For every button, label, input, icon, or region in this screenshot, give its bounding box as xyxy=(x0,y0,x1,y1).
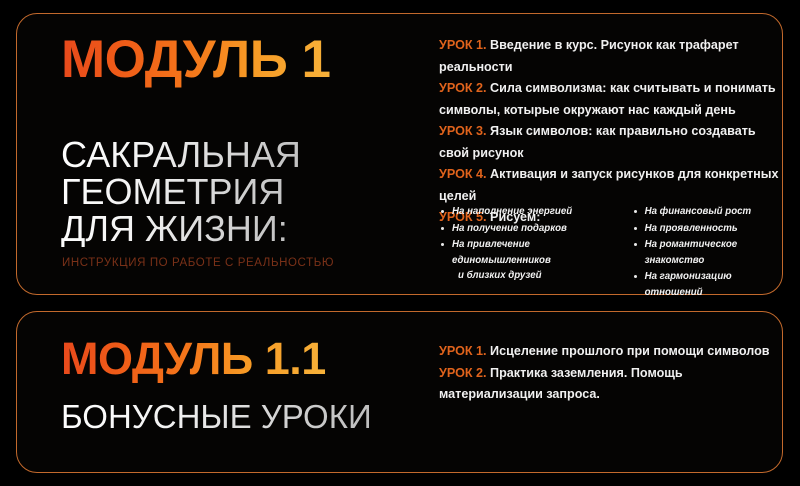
bullet-text-continuation: и близких друзей xyxy=(452,268,624,284)
list-item: На привлечение единомышленникови близких… xyxy=(439,237,624,284)
bullet-list-left: На наполнение энергией На получение пода… xyxy=(439,204,624,301)
bullet-text: На романтическое знакомство xyxy=(645,239,738,266)
bullet-text: На наполнение энергией xyxy=(452,206,572,217)
module-1-left-column: МОДУЛЬ 1 САКРАЛЬНАЯ ГЕОМЕТРИЯ ДЛЯ ЖИЗНИ:… xyxy=(17,14,417,294)
module-1-1-headline: БОНУСНЫЕ УРОКИ xyxy=(61,399,372,435)
module-1-panel: МОДУЛЬ 1 САКРАЛЬНАЯ ГЕОМЕТРИЯ ДЛЯ ЖИЗНИ:… xyxy=(16,13,783,295)
list-item: На наполнение энергией xyxy=(439,204,624,220)
lesson-tag: УРОК 2. xyxy=(439,366,487,380)
module-1-1-lesson-list: УРОК 1. Исцеление прошлого при помощи си… xyxy=(439,341,781,406)
module-1-headline: САКРАЛЬНАЯ ГЕОМЕТРИЯ ДЛЯ ЖИЗНИ: xyxy=(61,136,301,247)
lesson-item: УРОК 3. Язык символов: как правильно соз… xyxy=(439,121,781,164)
lesson-text: Язык символов: как правильно создавать с… xyxy=(439,124,756,160)
lesson-tag: УРОК 1. xyxy=(439,344,487,358)
lesson-item: УРОК 1. Исцеление прошлого при помощи си… xyxy=(439,341,781,363)
module-1-lesson-list: УРОК 1. Введение в курс. Рисунок как тра… xyxy=(439,35,781,229)
bullet-list-right: На финансовый рост На проявленность На р… xyxy=(632,204,787,301)
lesson-tag: УРОК 4. xyxy=(439,167,487,181)
course-modules-page: МОДУЛЬ 1 САКРАЛЬНАЯ ГЕОМЕТРИЯ ДЛЯ ЖИЗНИ:… xyxy=(0,0,800,486)
lesson-tag: УРОК 3. xyxy=(439,124,487,138)
bullet-text: На получение подарков xyxy=(452,223,567,234)
list-item: На проявленность xyxy=(632,221,787,237)
lesson-tag: УРОК 1. xyxy=(439,38,487,52)
lesson-item: УРОК 4. Активация и запуск рисунков для … xyxy=(439,164,781,207)
lesson-text: Сила символизма: как считывать и понимат… xyxy=(439,81,776,117)
module-1-subtitle: ИНСТРУКЦИЯ ПО РАБОТЕ С РЕАЛЬНОСТЬЮ xyxy=(62,257,334,269)
lesson-text: Исцеление прошлого при помощи символов xyxy=(487,344,770,358)
list-item: На романтическое знакомство xyxy=(632,237,787,268)
module-1-bullet-columns: На наполнение энергией На получение пода… xyxy=(439,204,787,301)
module-1-1-panel: МОДУЛЬ 1.1 БОНУСНЫЕ УРОКИ УРОК 1. Исцеле… xyxy=(16,311,783,473)
module-1-1-left-column: МОДУЛЬ 1.1 БОНУСНЫЕ УРОКИ xyxy=(17,312,417,472)
lesson-item: УРОК 2. Практика заземления. Помощь мате… xyxy=(439,363,781,406)
lesson-tag: УРОК 2. xyxy=(439,81,487,95)
list-item: На финансовый рост xyxy=(632,204,787,220)
bullet-text: На проявленность xyxy=(645,223,738,234)
bullet-text: На финансовый рост xyxy=(645,206,752,217)
list-item: На получение подарков xyxy=(439,221,624,237)
module-1-1-right-column: УРОК 1. Исцеление прошлого при помощи си… xyxy=(421,312,784,472)
bullet-text: На привлечение единомышленников xyxy=(452,239,551,266)
bullet-text: На гармонизацию отношений xyxy=(645,271,732,298)
module-1-1-title: МОДУЛЬ 1.1 xyxy=(61,334,326,384)
module-1-title: МОДУЛЬ 1 xyxy=(61,32,331,88)
lesson-item: УРОК 1. Введение в курс. Рисунок как тра… xyxy=(439,35,781,78)
module-1-right-column: УРОК 1. Введение в курс. Рисунок как тра… xyxy=(421,14,784,294)
lesson-text: Активация и запуск рисунков для конкретн… xyxy=(439,167,779,203)
list-item: На гармонизацию отношений xyxy=(632,269,787,300)
lesson-item: УРОК 2. Сила символизма: как считывать и… xyxy=(439,78,781,121)
